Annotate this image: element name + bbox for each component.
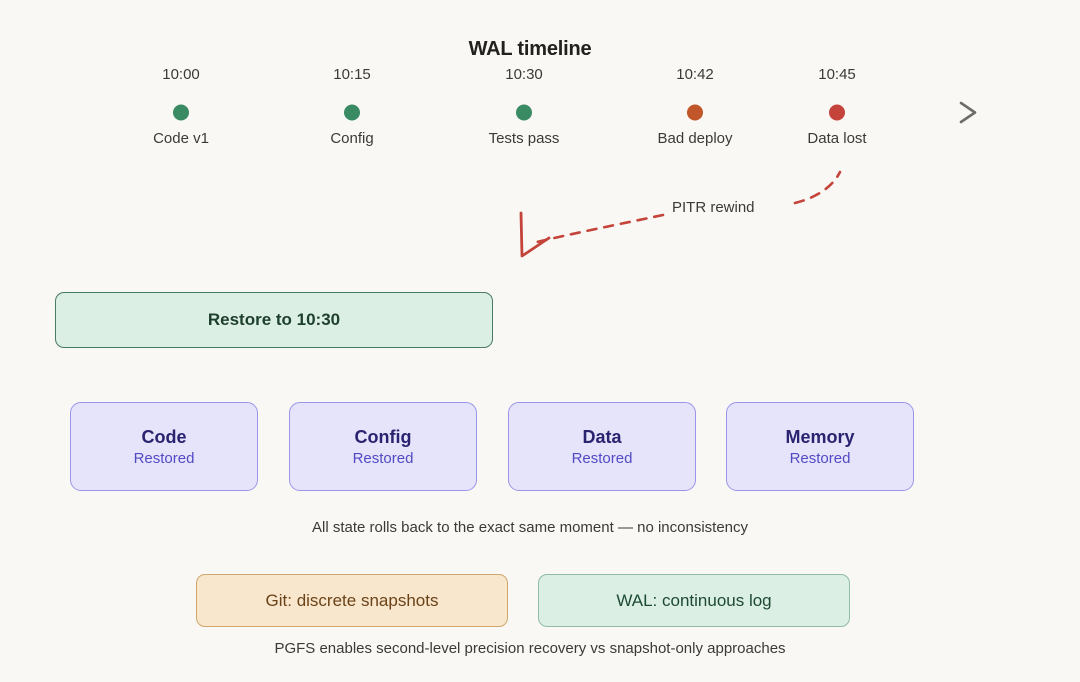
timeline-label-data-lost: Data lost — [807, 130, 866, 147]
restored-card-title: Data — [582, 427, 621, 448]
restored-card-status: Restored — [790, 450, 851, 467]
pill-wal-continuous-log[interactable]: WAL: continuous log — [538, 574, 850, 627]
consistency-caption: All state rolls back to the exact same m… — [0, 519, 1060, 536]
timeline-time-10-42: 10:42 — [676, 66, 714, 83]
diagram-canvas: WAL timeline 10:00Code v110:15Config10:3… — [0, 0, 1080, 682]
timeline-arrowhead-icon — [961, 103, 975, 122]
restored-card-config[interactable]: ConfigRestored — [289, 402, 477, 491]
restored-card-memory[interactable]: MemoryRestored — [726, 402, 914, 491]
pitr-arrow-tail — [795, 172, 840, 203]
timeline-dot-config[interactable] — [344, 105, 360, 121]
timeline-dot-bad-deploy[interactable] — [687, 105, 703, 121]
timeline-label-code-v1: Code v1 — [153, 130, 209, 147]
restored-card-code[interactable]: CodeRestored — [70, 402, 258, 491]
timeline-label-bad-deploy: Bad deploy — [657, 130, 732, 147]
restored-card-title: Memory — [785, 427, 854, 448]
summary-caption: PGFS enables second-level precision reco… — [0, 640, 1060, 657]
pitr-arrow-shaft — [537, 215, 663, 242]
pill-git-discrete-snapshots[interactable]: Git: discrete snapshots — [196, 574, 508, 627]
timeline-time-10-45: 10:45 — [818, 66, 856, 83]
timeline-dot-tests-pass[interactable] — [516, 105, 532, 121]
restored-card-data[interactable]: DataRestored — [508, 402, 696, 491]
timeline-dot-data-lost[interactable] — [829, 105, 845, 121]
timeline-label-tests-pass: Tests pass — [489, 130, 560, 147]
restored-card-title: Code — [142, 427, 187, 448]
restored-card-status: Restored — [134, 450, 195, 467]
timeline-time-10-15: 10:15 — [333, 66, 371, 83]
pitr-arrowhead-icon — [521, 213, 549, 256]
restored-card-title: Config — [355, 427, 412, 448]
restore-to-time-box[interactable]: Restore to 10:30 — [55, 292, 493, 348]
timeline-time-10-00: 10:00 — [162, 66, 200, 83]
pitr-rewind-label: PITR rewind — [672, 199, 755, 216]
timeline-label-config: Config — [330, 130, 373, 147]
restored-card-status: Restored — [572, 450, 633, 467]
timeline-dot-code-v1[interactable] — [173, 105, 189, 121]
timeline-time-10-30: 10:30 — [505, 66, 543, 83]
restored-card-status: Restored — [353, 450, 414, 467]
